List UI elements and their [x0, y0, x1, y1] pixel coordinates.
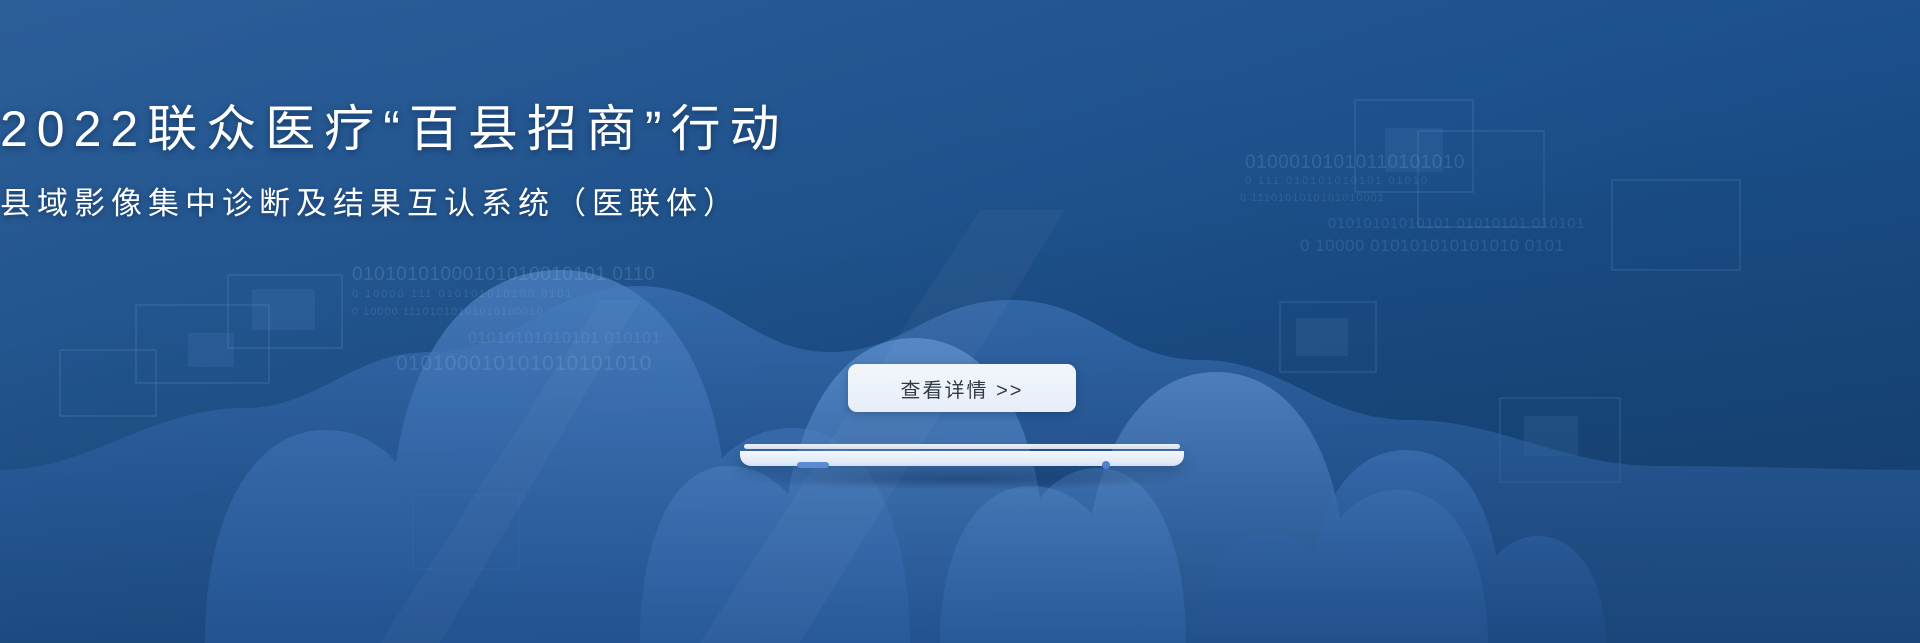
binary-code-decoration: 010100010101010101010 — [396, 352, 652, 376]
view-details-button[interactable]: 查看详情 >> — [848, 364, 1076, 412]
binary-code-decoration: 0 10000 010101010101010 0101 — [1300, 236, 1565, 256]
binary-code-decoration: 0 10000 111 010101010100 0101 — [352, 288, 574, 300]
binary-code-decoration: 0 10000 11101010101010100010 — [352, 306, 544, 318]
laptop-device — [740, 444, 1184, 470]
laptop-camera-icon — [1102, 461, 1110, 469]
background-decoration-layer — [0, 0, 1920, 643]
binary-code-decoration: 01010101000101010010101 0110 — [352, 264, 655, 286]
laptop-speaker-icon — [797, 462, 829, 468]
binary-code-decoration: 01010101010101 010101 — [468, 330, 661, 348]
laptop-lid — [744, 444, 1180, 449]
banner-sub-title: 县域影像集中诊断及结果互认系统（医联体） — [0, 182, 1920, 226]
promo-banner: 01010101000101010010101 0110 0 10000 111… — [0, 0, 1920, 643]
laptop-base — [740, 451, 1184, 466]
banner-main-title: 2022联众医疗“百县招商”行动 — [0, 98, 1920, 160]
laptop-shadow — [752, 468, 1172, 490]
